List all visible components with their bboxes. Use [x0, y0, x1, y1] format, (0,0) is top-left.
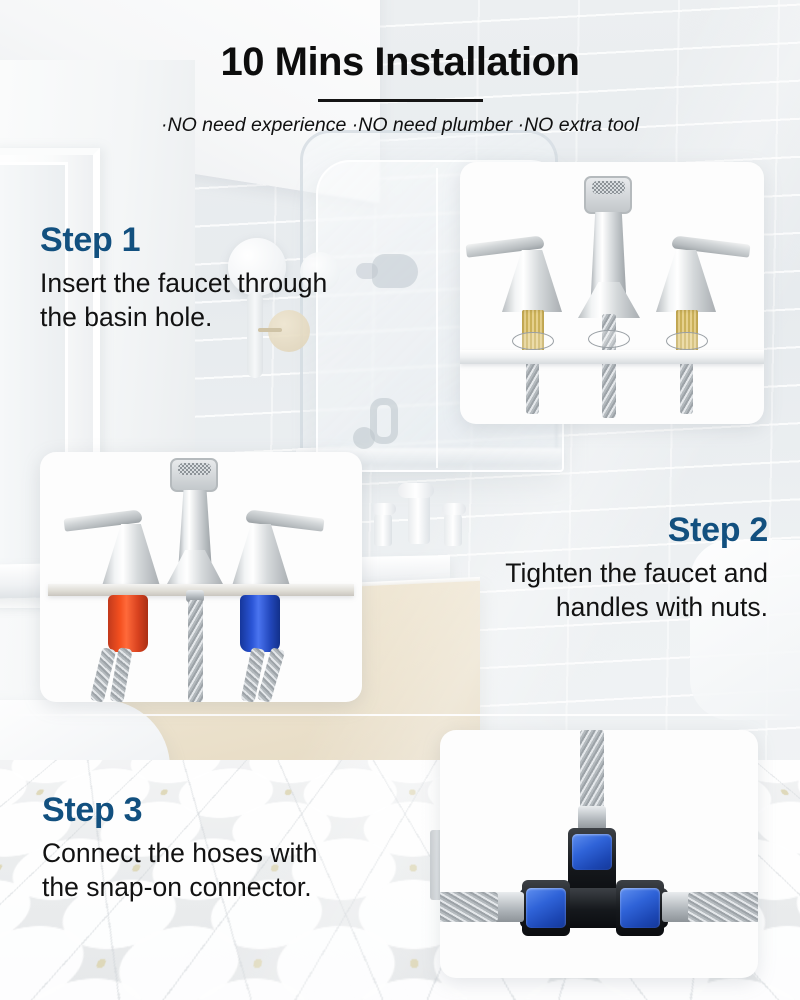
step-2-text-block: Step 2 Tighten the faucet and handles wi…: [390, 512, 768, 625]
left-handle-bell: [502, 250, 562, 312]
cold-mounting-nut-blue: [240, 595, 280, 652]
step-1-label: Step 1: [40, 222, 440, 259]
step-2-body: Tighten the faucet and handles with nuts…: [390, 557, 768, 625]
header: 10 Mins Installation ·NO need experience…: [0, 40, 800, 137]
countertop-slab: [460, 350, 764, 364]
page-subtitle: ·NO need experience ·NO need plumber ·NO…: [0, 114, 800, 137]
spout-aerator-mesh: [178, 463, 211, 475]
vertical-hose-ferrule: [578, 806, 606, 830]
spout-bell-base: [166, 550, 224, 586]
left-hose-ferrule: [494, 892, 524, 922]
left-handle-nut-ring: [512, 332, 554, 350]
step-2-body-line-1: Tighten the faucet and: [390, 557, 768, 591]
step-1-text-block: Step 1 Insert the faucet through the bas…: [40, 222, 440, 335]
step-3-text-block: Step 3 Connect the hoses with the snap-o…: [42, 792, 442, 905]
shower-valve-icon: [370, 398, 398, 444]
spout-supply-hose: [188, 600, 203, 702]
step-2-label: Step 2: [390, 512, 768, 549]
step-1-photo-card: [460, 162, 764, 424]
right-handle-nut-ring: [666, 332, 708, 350]
right-quick-connect-clip: [620, 888, 660, 928]
vertical-supply-hose: [580, 730, 604, 808]
step-2-photo-card: [40, 452, 362, 702]
step-3-label: Step 3: [42, 792, 442, 829]
spout-nut-ring: [588, 330, 630, 348]
right-handle-bell: [232, 524, 290, 586]
spout-bell-base: [578, 282, 640, 318]
step-1-body: Insert the faucet through the basin hole…: [40, 267, 440, 335]
section-divider: [0, 714, 800, 716]
right-supply-hose: [688, 892, 758, 922]
top-quick-connect-clip: [572, 834, 612, 870]
title-underline: [318, 99, 483, 102]
step-1-body-line-2: the basin hole.: [40, 301, 440, 335]
step-3-body-line-2: the snap-on connector.: [42, 871, 442, 905]
page-title: 10 Mins Installation: [0, 40, 800, 85]
step-1-body-line-1: Insert the faucet through: [40, 267, 440, 301]
infographic-stage: 10 Mins Installation ·NO need experience…: [0, 0, 800, 1000]
step-3-body: Connect the hoses with the snap-on conne…: [42, 837, 442, 905]
step-3-photo-card: [440, 730, 758, 978]
left-quick-connect-clip: [526, 888, 566, 928]
hot-mounting-nut-red: [108, 595, 148, 652]
spout-aerator-mesh: [592, 181, 625, 194]
left-handle-bell: [102, 524, 160, 586]
left-supply-hose: [440, 892, 498, 922]
step-2-body-line-2: handles with nuts.: [390, 591, 768, 625]
step-3-body-line-1: Connect the hoses with: [42, 837, 442, 871]
right-handle-bell: [656, 250, 716, 312]
